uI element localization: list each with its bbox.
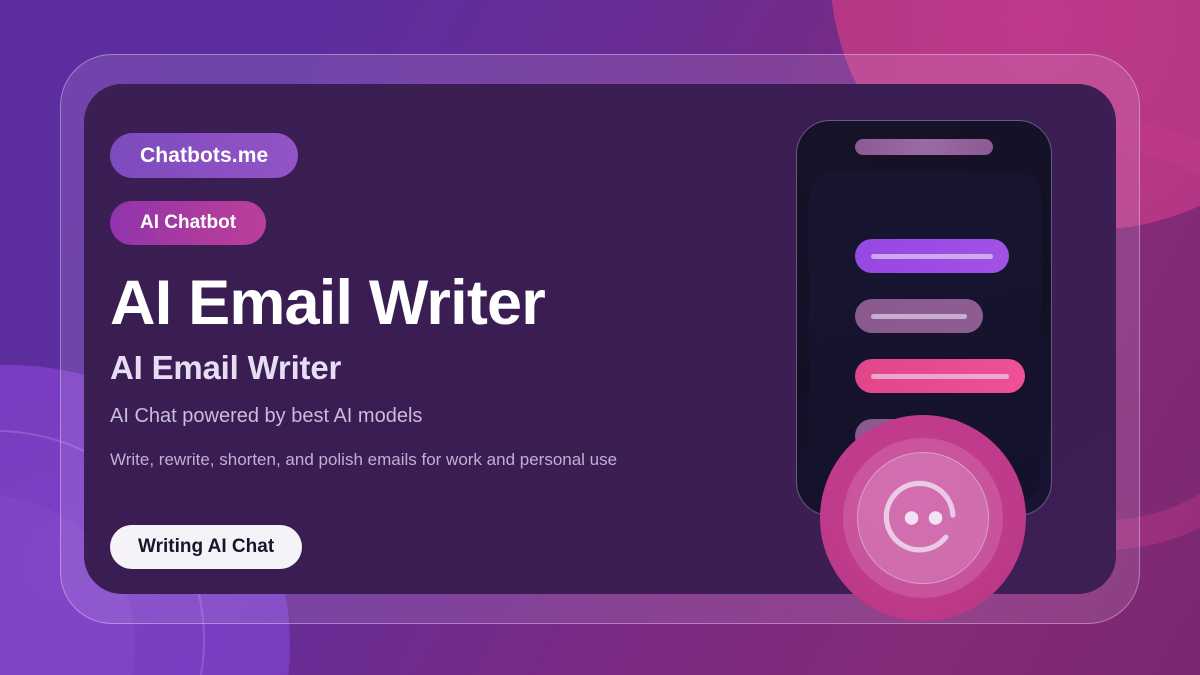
chat-smiley-icon [871, 466, 975, 570]
chat-bubble-3 [855, 359, 1025, 393]
hero-tagline: AI Chat powered by best AI models [110, 405, 790, 428]
cta-button[interactable]: Writing AI Chat [110, 525, 302, 569]
hero-content: Chatbots.me AI Chatbot AI Email Writer A… [110, 84, 790, 594]
chat-smiley-badge [820, 415, 1026, 621]
page-title: AI Email Writer [110, 271, 790, 335]
page-subtitle: AI Email Writer [110, 349, 790, 387]
chat-bubble-text-line [871, 254, 993, 259]
promo-banner: Chatbots.me AI Chatbot AI Email Writer A… [0, 0, 1200, 675]
hero-description: Write, rewrite, shorten, and polish emai… [110, 450, 790, 470]
chat-bubble-1 [855, 239, 1009, 273]
category-pill[interactable]: AI Chatbot [110, 201, 266, 245]
phone-notch-bar [855, 139, 993, 155]
chat-bubble-text-line [871, 374, 1009, 379]
brand-pill[interactable]: Chatbots.me [110, 133, 298, 178]
chat-bubble-2 [855, 299, 983, 333]
chat-bubble-text-line [871, 314, 967, 319]
